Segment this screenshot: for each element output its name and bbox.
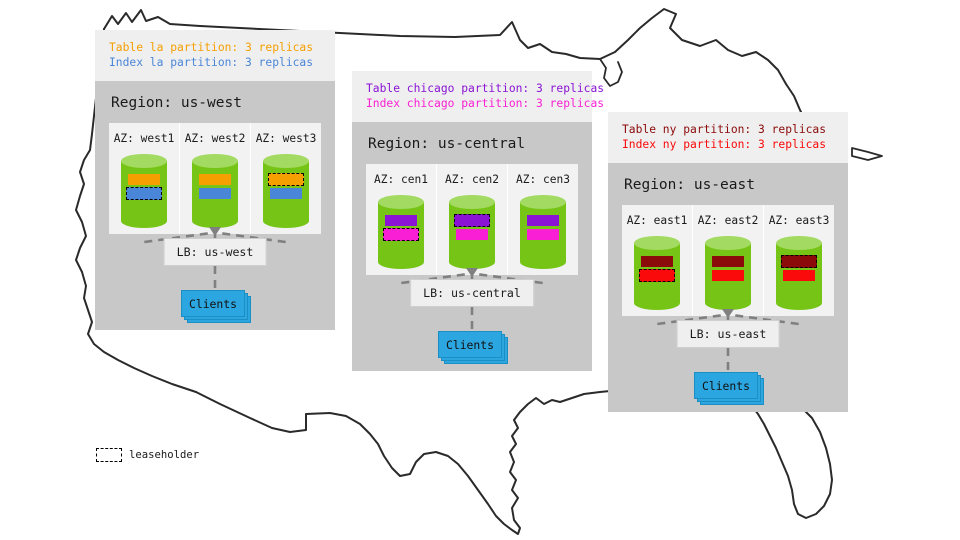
cylinder-top — [520, 195, 566, 209]
az-cell-cen3[interactable]: AZ: cen3 — [508, 164, 578, 275]
partition-line-table: Table chicago partition: 3 replicas — [366, 81, 578, 96]
index-replica-band-leaseholder — [383, 228, 419, 241]
cylinder-top — [263, 154, 309, 168]
region-panel-us-east: Table ny partition: 3 replicasIndex ny p… — [608, 112, 848, 412]
az-row-us-central: AZ: cen1AZ: cen2AZ: cen3 — [366, 164, 578, 275]
region-title-us-central: Region: us-central — [352, 122, 592, 164]
cylinder-top — [634, 236, 680, 250]
az-label: AZ: cen3 — [516, 173, 570, 186]
az-row-us-east: AZ: east1AZ: east2AZ: east3 — [622, 205, 834, 316]
cylinder-top — [192, 154, 238, 168]
az-cell-cen2[interactable]: AZ: cen2 — [437, 164, 508, 275]
table-replica-band — [641, 256, 673, 267]
clients-us-west[interactable]: Clients — [181, 290, 243, 315]
region-title-us-west: Region: us-west — [95, 81, 335, 123]
database-cylinder[interactable] — [520, 195, 566, 269]
database-cylinder[interactable] — [263, 154, 309, 228]
az-cell-east3[interactable]: AZ: east3 — [764, 205, 834, 316]
index-replica-band-leaseholder — [639, 269, 675, 282]
az-cell-west3[interactable]: AZ: west3 — [251, 123, 321, 234]
index-replica-band — [199, 188, 231, 199]
partition-legend-us-west: Table la partition: 3 replicasIndex la p… — [95, 30, 335, 81]
table-replica-band — [385, 215, 417, 226]
database-cylinder[interactable] — [776, 236, 822, 310]
leaseholder-legend: leaseholder — [96, 448, 199, 462]
region-title-us-east: Region: us-east — [608, 163, 848, 205]
index-replica-band — [783, 270, 815, 281]
us-florida — [752, 406, 832, 518]
table-replica-band-leaseholder — [781, 255, 817, 268]
clients-label: Clients — [446, 338, 494, 352]
region-panel-us-central: Table chicago partition: 3 replicasIndex… — [352, 71, 592, 371]
database-cylinder[interactable] — [378, 195, 424, 269]
cylinder-top — [121, 154, 167, 168]
clients-label: Clients — [702, 379, 750, 393]
table-replica-band — [128, 174, 160, 185]
clients-sheet-front: Clients — [181, 290, 245, 317]
az-row-us-west: AZ: west1AZ: west2AZ: west3 — [109, 123, 321, 234]
index-replica-band — [270, 188, 302, 199]
partition-line-index: Index chicago partition: 3 replicas — [366, 96, 578, 111]
az-label: AZ: cen1 — [374, 173, 428, 186]
legend-label: leaseholder — [129, 449, 199, 461]
load-balancer-us-central[interactable]: LB: us-central — [410, 279, 534, 307]
database-cylinder[interactable] — [192, 154, 238, 228]
az-cell-east2[interactable]: AZ: east2 — [693, 205, 764, 316]
clients-sheet-front: Clients — [694, 372, 758, 399]
load-balancer-us-west[interactable]: LB: us-west — [164, 238, 267, 266]
clients-us-east[interactable]: Clients — [694, 372, 756, 397]
load-balancer-us-east[interactable]: LB: us-east — [677, 320, 780, 348]
database-cylinder[interactable] — [634, 236, 680, 310]
long-island-outline — [852, 148, 882, 160]
clients-us-central[interactable]: Clients — [438, 331, 500, 356]
index-replica-band-leaseholder — [126, 187, 162, 200]
az-cell-west1[interactable]: AZ: west1 — [109, 123, 180, 234]
az-label: AZ: east3 — [769, 214, 830, 227]
az-label: AZ: west3 — [256, 132, 317, 145]
partition-line-index: Index ny partition: 3 replicas — [622, 137, 834, 152]
table-replica-band-leaseholder — [454, 214, 490, 227]
az-label: AZ: cen2 — [445, 173, 499, 186]
partition-line-index: Index la partition: 3 replicas — [109, 55, 321, 70]
az-label: AZ: west1 — [114, 132, 175, 145]
table-replica-band-leaseholder — [268, 173, 304, 186]
az-label: AZ: west2 — [185, 132, 246, 145]
partition-legend-us-central: Table chicago partition: 3 replicasIndex… — [352, 71, 592, 122]
clients-sheet-front: Clients — [438, 331, 502, 358]
az-label: AZ: east1 — [627, 214, 688, 227]
cylinder-top — [378, 195, 424, 209]
table-replica-band — [712, 256, 744, 267]
az-cell-cen1[interactable]: AZ: cen1 — [366, 164, 437, 275]
database-cylinder[interactable] — [121, 154, 167, 228]
partition-line-table: Table ny partition: 3 replicas — [622, 122, 834, 137]
partition-line-table: Table la partition: 3 replicas — [109, 40, 321, 55]
database-cylinder[interactable] — [449, 195, 495, 269]
cylinder-top — [705, 236, 751, 250]
az-cell-east1[interactable]: AZ: east1 — [622, 205, 693, 316]
az-label: AZ: east2 — [698, 214, 759, 227]
index-replica-band — [712, 270, 744, 281]
cylinder-top — [776, 236, 822, 250]
database-cylinder[interactable] — [705, 236, 751, 310]
partition-legend-us-east: Table ny partition: 3 replicasIndex ny p… — [608, 112, 848, 163]
table-replica-band — [199, 174, 231, 185]
index-replica-band — [456, 229, 488, 240]
az-cell-west2[interactable]: AZ: west2 — [180, 123, 251, 234]
index-replica-band — [527, 229, 559, 240]
cylinder-top — [449, 195, 495, 209]
region-panel-us-west: Table la partition: 3 replicasIndex la p… — [95, 30, 335, 330]
dashed-rectangle-icon — [96, 448, 122, 462]
clients-label: Clients — [189, 297, 237, 311]
table-replica-band — [527, 215, 559, 226]
